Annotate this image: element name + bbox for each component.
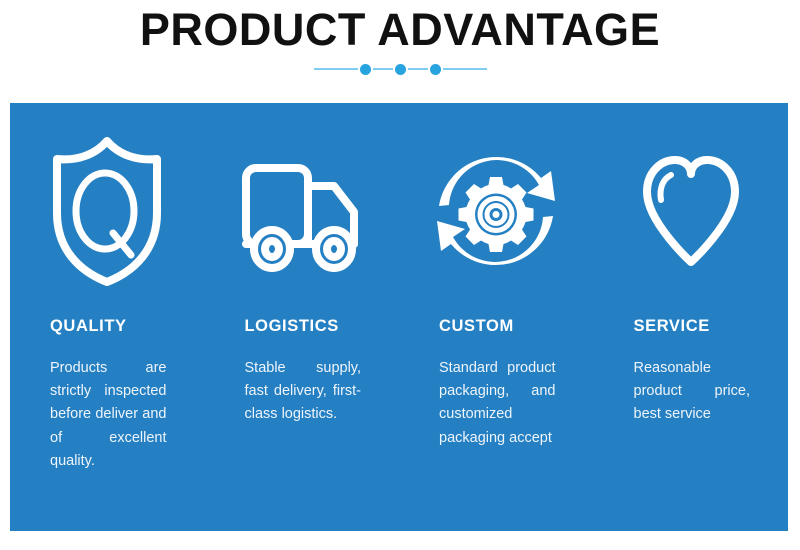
feature-card-quality: QUALITY Products are strictly inspected … — [10, 103, 205, 531]
divider-line-right — [443, 68, 487, 70]
title-divider — [0, 62, 800, 76]
delivery-truck-icon — [225, 103, 380, 318]
divider-line-left — [314, 68, 358, 70]
divider-dot-3 — [430, 64, 441, 75]
heart-icon — [614, 103, 769, 318]
divider-line-mid-2 — [408, 68, 428, 70]
feature-card-service: SERVICE Reasonable product price, best s… — [594, 103, 789, 531]
shield-q-icon — [30, 103, 185, 318]
features-card-list: QUALITY Products are strictly inspected … — [10, 103, 788, 531]
feature-title: LOGISTICS — [225, 318, 380, 335]
page-title: PRODUCT ADVANTAGE — [0, 0, 800, 53]
feature-title: CUSTOM — [419, 318, 574, 335]
feature-description: Reasonable product price, best service — [614, 335, 769, 427]
cycle-gear-icon — [419, 103, 574, 318]
feature-description: Products are strictly inspected before d… — [30, 335, 185, 474]
product-advantage-banner: PRODUCT ADVANTAGE QUALIT — [0, 0, 800, 550]
divider-line-mid-1 — [373, 68, 393, 70]
divider-dot-1 — [360, 64, 371, 75]
feature-title: QUALITY — [30, 318, 185, 335]
feature-description: Stable supply, fast delivery, first-clas… — [225, 335, 380, 427]
feature-card-custom: CUSTOM Standard product packaging, and c… — [399, 103, 594, 531]
header: PRODUCT ADVANTAGE — [0, 0, 800, 103]
features-panel: QUALITY Products are strictly inspected … — [10, 103, 788, 531]
feature-title: SERVICE — [614, 318, 769, 335]
divider-dot-2 — [395, 64, 406, 75]
feature-description: Standard product packaging, and customiz… — [419, 335, 574, 451]
feature-card-logistics: LOGISTICS Stable supply, fast delivery, … — [205, 103, 400, 531]
